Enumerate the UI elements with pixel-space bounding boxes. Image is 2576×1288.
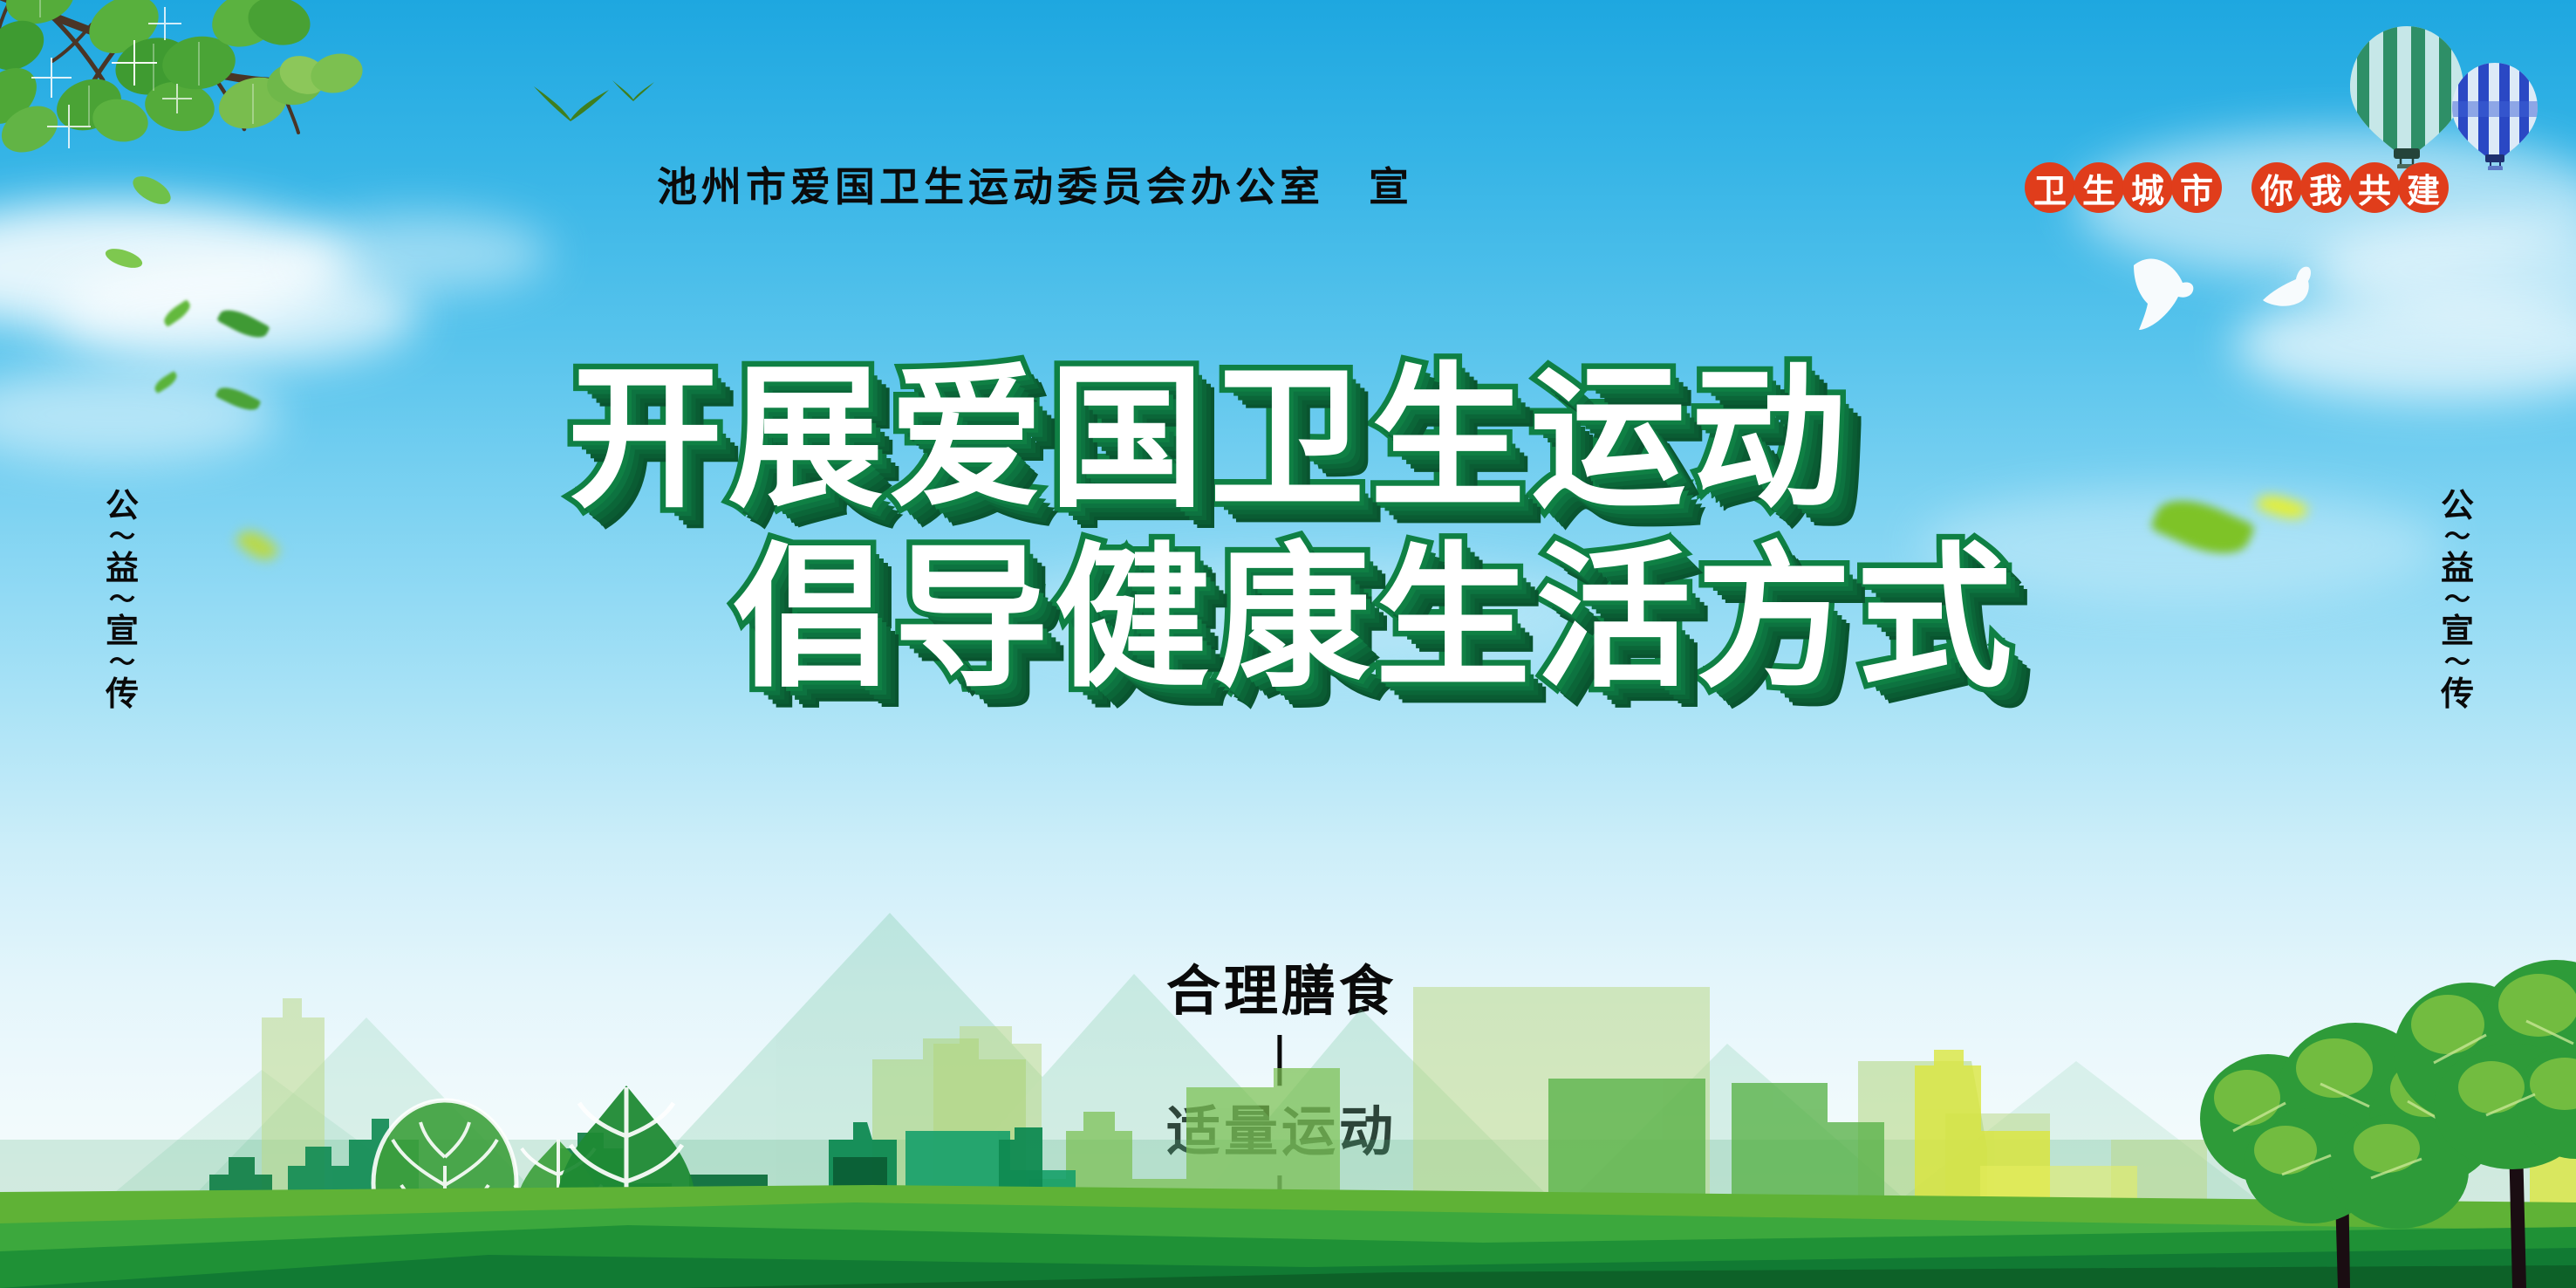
badge-char: 建 — [2398, 162, 2449, 213]
city-scenery — [0, 878, 2576, 1288]
bird-icon — [611, 79, 656, 105]
dove-icon — [2128, 251, 2197, 332]
tree-branch-icon — [0, 0, 366, 271]
bird-icon — [532, 83, 611, 127]
dove-icon — [2259, 262, 2313, 311]
badge-char: 你 — [2251, 162, 2302, 213]
slogan-badge-row: 卫 生 城 市 你 我 共 建 — [2025, 162, 2447, 213]
badge-group-1: 卫 生 城 市 — [2025, 162, 2220, 213]
balloon-blue-icon — [2451, 61, 2538, 170]
title-line-1: 开展爱国卫生运动 — [0, 349, 2497, 529]
badge-char: 共 — [2349, 162, 2400, 213]
badge-char: 卫 — [2025, 162, 2075, 213]
organization-line: 池州市爱国卫生运动委员会办公室 宣 — [0, 155, 2323, 213]
title-line-2: 倡导健康生活方式 — [87, 529, 2576, 709]
badge-char: 市 — [2171, 162, 2222, 213]
main-title: 开展爱国卫生运动 倡导健康生活方式 — [0, 349, 2576, 709]
badge-char: 城 — [2122, 162, 2173, 213]
badge-group-2: 你 我 共 建 — [2251, 162, 2447, 213]
poster-canvas: 池州市爱国卫生运动委员会办公室 宣 卫 生 城 市 你 我 共 建 公 ～ 益 … — [0, 0, 2576, 1288]
balloon-green-icon — [2348, 24, 2466, 168]
badge-char: 生 — [2074, 162, 2124, 213]
badge-char: 我 — [2300, 162, 2351, 213]
